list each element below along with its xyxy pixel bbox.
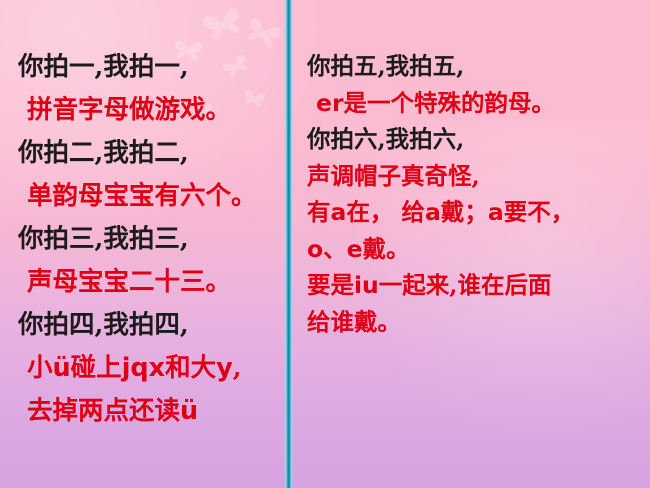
verse-line: 你拍三,我拍三,	[18, 218, 302, 261]
right-verse-lines: 你拍五,我拍五,er是一个特殊的韵母。你拍六,我拍六,声调帽子真奇怪,有a在， …	[293, 48, 650, 340]
latin-run: ü	[53, 353, 71, 383]
latin-run: a	[331, 198, 347, 226]
latin-run: a	[425, 198, 441, 226]
latin-run: jqx	[122, 353, 165, 383]
verse-line: 要是iu一起来,谁在后面	[307, 267, 650, 304]
verse-line: 你拍一,我拍一,	[18, 46, 302, 89]
latin-run: iu	[354, 271, 379, 299]
latin-run: ü	[180, 396, 198, 426]
verse-line: 声调帽子真奇怪,	[307, 158, 650, 195]
latin-run: er	[316, 89, 344, 117]
verse-line: 给谁戴。	[307, 304, 650, 341]
verse-line: er是一个特殊的韵母。	[307, 85, 650, 122]
verse-line: 你拍四,我拍四,	[18, 304, 302, 347]
verse-line: 声母宝宝二十三。	[18, 261, 302, 304]
verse-line: o、e戴。	[307, 231, 650, 268]
verse-line: 有a在， 给a戴；a要不，	[307, 194, 650, 231]
verse-line: 去掉两点还读ü	[18, 390, 302, 433]
latin-run: e	[347, 235, 363, 263]
slide-canvas: 你拍一,我拍一,拼音字母做游戏。你拍二,我拍二,单韵母宝宝有六个。你拍三,我拍三…	[0, 0, 650, 488]
verse-line: 你拍六,我拍六,	[307, 121, 650, 158]
verse-line: 你拍五,我拍五,	[307, 48, 650, 85]
verse-line: 单韵母宝宝有六个。	[18, 175, 302, 218]
latin-run: o	[307, 235, 323, 263]
verse-line: 拼音字母做游戏。	[18, 89, 302, 132]
verse-line: 小ü碰上jqx和大y,	[18, 347, 302, 390]
latin-run: y	[216, 353, 233, 383]
latin-run: a	[488, 198, 504, 226]
verse-line: 你拍二,我拍二,	[18, 132, 302, 175]
left-verse-lines: 你拍一,我拍一,拼音字母做游戏。你拍二,我拍二,单韵母宝宝有六个。你拍三,我拍三…	[0, 46, 302, 433]
